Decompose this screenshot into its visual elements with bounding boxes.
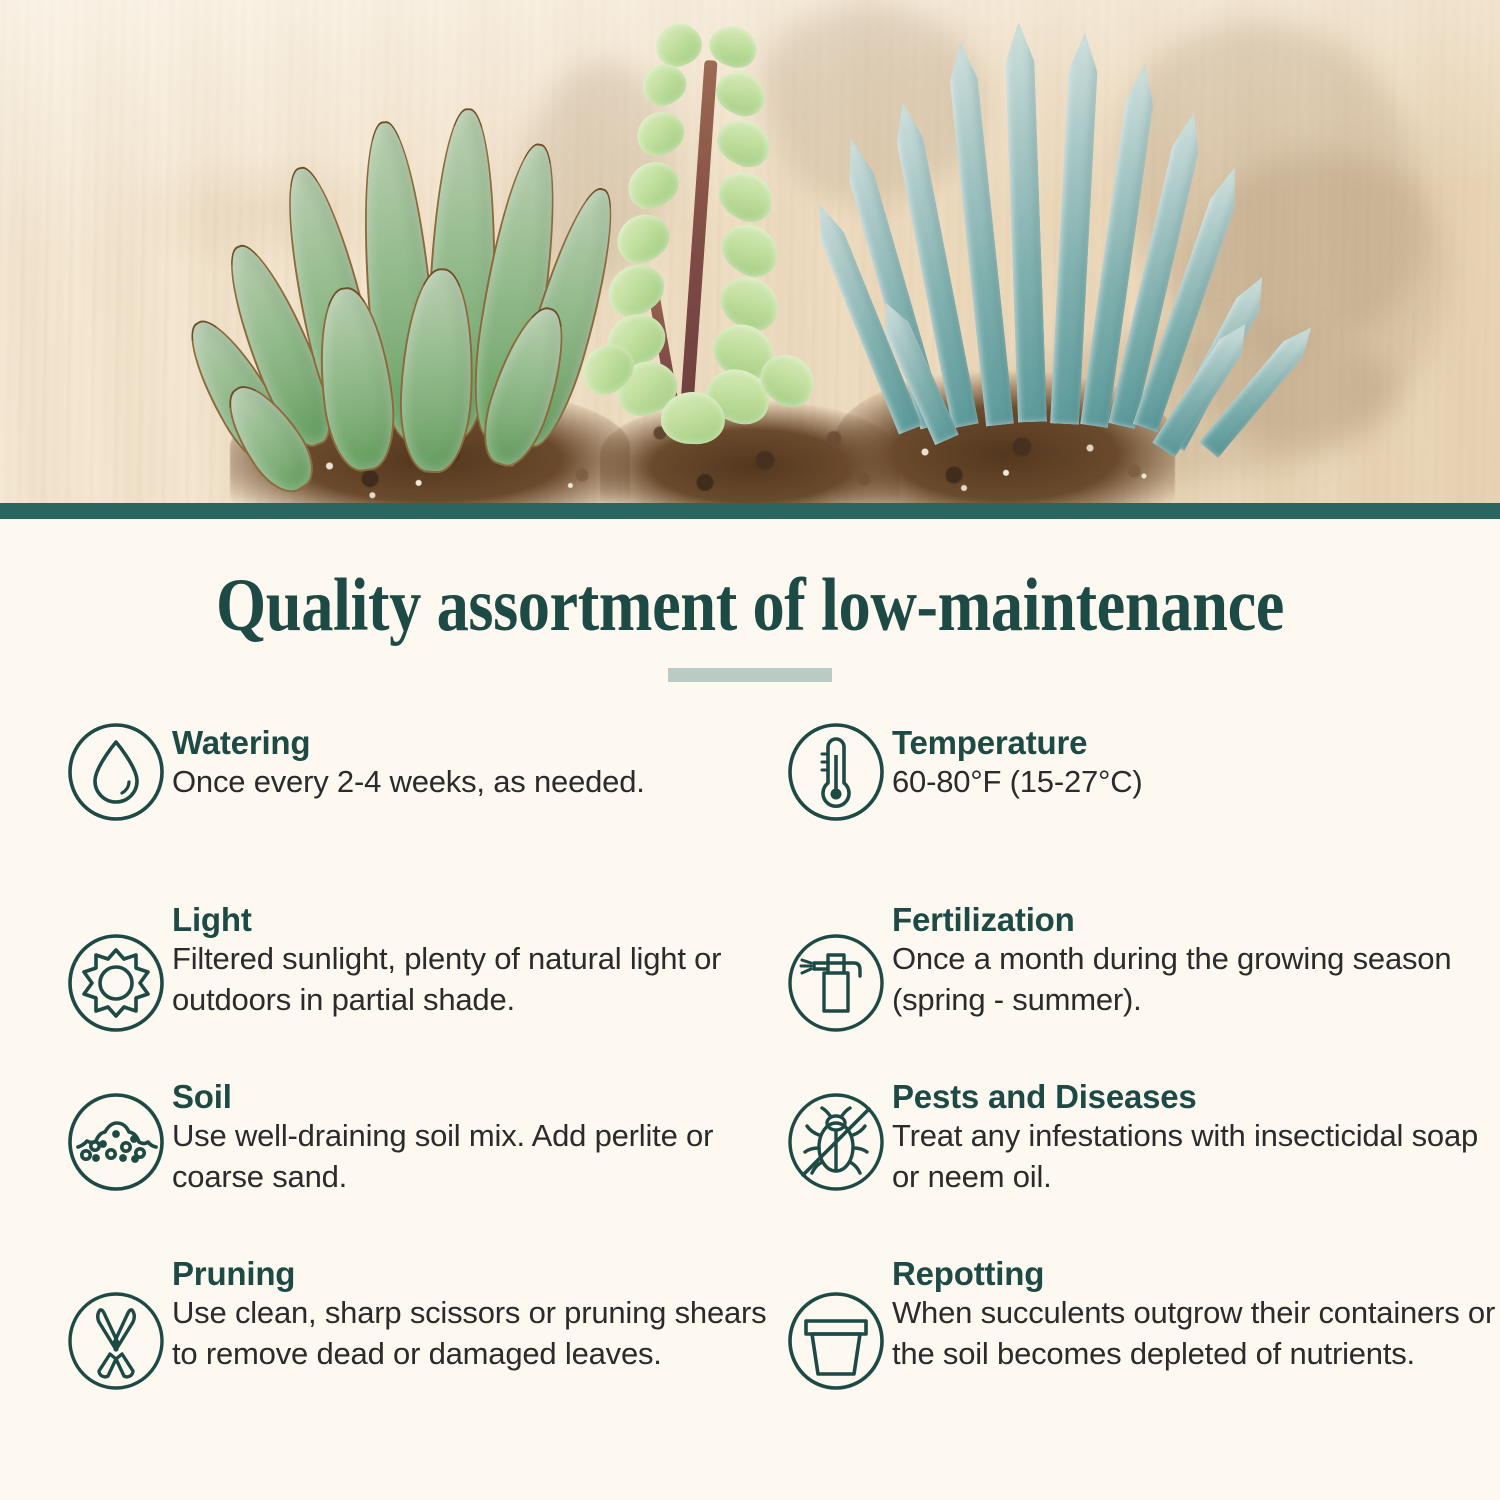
care-item-heading: Repotting (892, 1257, 1500, 1292)
no-bug-icon (780, 1072, 892, 1192)
care-item-description: Filtered sunlight, plenty of natural lig… (172, 939, 780, 1020)
care-item-heading: Temperature (892, 726, 1143, 761)
care-item-description: Treat any infestations with insecticidal… (892, 1116, 1500, 1197)
care-item-heading: Soil (172, 1080, 780, 1115)
care-item-description: Use clean, sharp scissors or pruning she… (172, 1293, 780, 1374)
care-item-description: Once every 2-4 weeks, as needed. (172, 762, 645, 802)
care-item-heading: Pests and Diseases (892, 1080, 1500, 1115)
care-item-text: Pests and Diseases Treat any infestation… (892, 1072, 1500, 1198)
perlite-grit (880, 420, 1180, 500)
care-item-description: Once a month during the growing season (… (892, 939, 1500, 1020)
care-item-heading: Pruning (172, 1257, 780, 1292)
title-accent-bar (668, 668, 832, 682)
care-item-pests: Pests and Diseases Treat any infestation… (780, 1072, 1500, 1249)
pruning-shears-icon (60, 1249, 172, 1391)
water-drop-icon (60, 718, 172, 822)
thermometer-icon (780, 718, 892, 822)
care-item-description: 60-80°F (15-27°C) (892, 762, 1143, 802)
spray-bottle-icon (780, 895, 892, 1033)
soil-mound-icon (60, 1072, 172, 1192)
care-item-light: Light Filtered sunlight, plenty of natur… (60, 895, 780, 1072)
care-item-text: Light Filtered sunlight, plenty of natur… (172, 895, 780, 1021)
care-item-heading: Fertilization (892, 903, 1500, 938)
care-item-temperature: Temperature 60-80°F (15-27°C) (780, 718, 1500, 895)
care-item-text: Temperature 60-80°F (15-27°C) (892, 718, 1143, 803)
plant-pot-icon (780, 1249, 892, 1391)
care-item-heading: Watering (172, 726, 645, 761)
care-item-pruning: Pruning Use clean, sharp scissors or pru… (60, 1249, 780, 1426)
care-item-text: Pruning Use clean, sharp scissors or pru… (172, 1249, 780, 1375)
care-item-soil: Soil Use well-draining soil mix. Add per… (60, 1072, 780, 1249)
care-guide-section: Quality assortment of low-maintenance W (0, 519, 1500, 1500)
care-item-description: When succulents outgrow their containers… (892, 1293, 1500, 1374)
care-item-repotting: Repotting When succulents outgrow their … (780, 1249, 1500, 1426)
care-item-text: Repotting When succulents outgrow their … (892, 1249, 1500, 1375)
care-column-left: Watering Once every 2-4 weeks, as needed… (60, 718, 780, 1426)
care-item-text: Watering Once every 2-4 weeks, as needed… (172, 718, 645, 803)
care-item-watering: Watering Once every 2-4 weeks, as needed… (60, 718, 780, 895)
care-item-heading: Light (172, 903, 780, 938)
sun-icon (60, 895, 172, 1033)
care-item-text: Soil Use well-draining soil mix. Add per… (172, 1072, 780, 1198)
hero-photo (0, 0, 1500, 503)
care-item-fertilization: Fertilization Once a month during the gr… (780, 895, 1500, 1072)
care-column-right: Temperature 60-80°F (15-27°C) (780, 718, 1500, 1426)
teal-divider-rule (0, 503, 1500, 519)
care-item-description: Use well-draining soil mix. Add perlite … (172, 1116, 780, 1197)
care-item-text: Fertilization Once a month during the gr… (892, 895, 1500, 1021)
care-items-grid: Watering Once every 2-4 weeks, as needed… (0, 718, 1500, 1426)
page-title: Quality assortment of low-maintenance (105, 566, 1395, 646)
infographic-page: Quality assortment of low-maintenance W (0, 0, 1500, 1500)
